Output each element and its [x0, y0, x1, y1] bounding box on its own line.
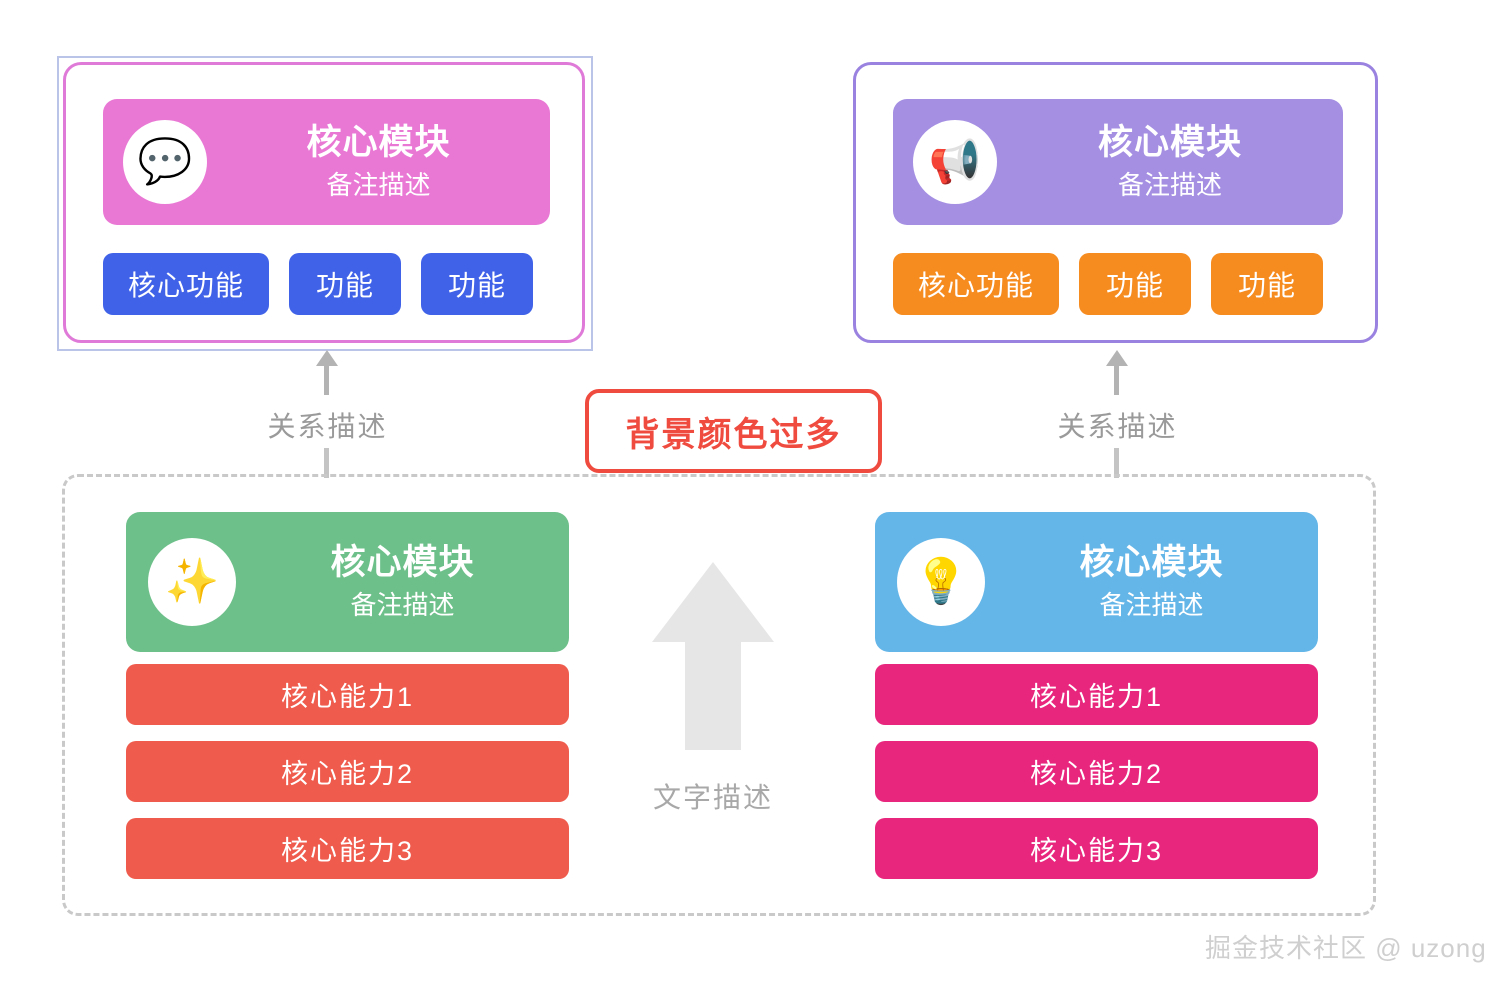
- pill-capability-3[interactable]: 核心能力3: [126, 818, 569, 879]
- pill-capability-2[interactable]: 核心能力2: [126, 741, 569, 802]
- module-header-texts-bottom-left: 核心模块 备注描述: [236, 543, 569, 620]
- card-bottom-right[interactable]: 💡 核心模块 备注描述 核心能力1 核心能力2 核心能力3: [875, 512, 1318, 880]
- module-header-texts-top-right: 核心模块 备注描述: [997, 123, 1343, 200]
- light-bulb-icon-glyph: 💡: [914, 560, 969, 604]
- connector-left-stem: [324, 365, 329, 395]
- callout-too-many-colors: 背景颜色过多: [585, 389, 882, 473]
- diagram-canvas: 💬 核心模块 备注描述 核心功能 功能 功能 📢 核心模块 备注描述 核心功能 …: [0, 0, 1496, 982]
- pill-capability-1[interactable]: 核心能力1: [875, 664, 1318, 725]
- megaphone-icon-glyph: 📢: [929, 141, 981, 183]
- module-subtitle: 备注描述: [326, 170, 430, 201]
- pill-function-2[interactable]: 功能: [421, 253, 533, 315]
- module-header-top-right[interactable]: 📢 核心模块 备注描述: [893, 99, 1343, 225]
- megaphone-icon: 📢: [913, 120, 997, 204]
- pill-function-1[interactable]: 功能: [289, 253, 401, 315]
- module-header-texts-bottom-right: 核心模块 备注描述: [985, 543, 1318, 620]
- module-title: 核心模块: [1098, 123, 1242, 163]
- module-title: 核心模块: [1079, 543, 1223, 583]
- speech-bubble-icon: 💬: [123, 120, 207, 204]
- pill-capability-2[interactable]: 核心能力2: [875, 741, 1318, 802]
- pill-capability-3[interactable]: 核心能力3: [875, 818, 1318, 879]
- center-up-arrow-icon: [652, 562, 774, 750]
- module-header-bottom-right[interactable]: 💡 核心模块 备注描述: [875, 512, 1318, 652]
- module-subtitle: 备注描述: [1118, 170, 1222, 201]
- card-top-left[interactable]: 💬 核心模块 备注描述 核心功能 功能 功能: [63, 62, 585, 343]
- center-arrow-label: 文字描述: [652, 776, 774, 816]
- module-title: 核心模块: [306, 123, 450, 163]
- center-arrow-tip: [652, 562, 774, 642]
- pill-function-1[interactable]: 功能: [1079, 253, 1191, 315]
- pill-core-function[interactable]: 核心功能: [893, 253, 1059, 315]
- module-title: 核心模块: [330, 543, 474, 583]
- connector-left-label: 关系描述: [265, 405, 390, 445]
- module-subtitle: 备注描述: [1099, 590, 1203, 621]
- card-bottom-left[interactable]: ✨ 核心模块 备注描述 核心能力1 核心能力2 核心能力3: [126, 512, 569, 880]
- connector-left-arrowhead: [316, 350, 338, 366]
- light-bulb-icon: 💡: [897, 538, 985, 626]
- module-header-bottom-left[interactable]: ✨ 核心模块 备注描述: [126, 512, 569, 652]
- connector-right-arrowhead: [1106, 350, 1128, 366]
- center-arrow-shaft: [685, 640, 741, 750]
- module-header-top-left[interactable]: 💬 核心模块 备注描述: [103, 99, 550, 225]
- module-header-texts-top-left: 核心模块 备注描述: [207, 123, 550, 200]
- sparkles-icon-glyph: ✨: [165, 560, 220, 604]
- pill-capability-1[interactable]: 核心能力1: [126, 664, 569, 725]
- module-subtitle: 备注描述: [350, 590, 454, 621]
- pill-function-2[interactable]: 功能: [1211, 253, 1323, 315]
- speech-bubble-icon-glyph: 💬: [138, 140, 193, 184]
- pill-core-function[interactable]: 核心功能: [103, 253, 269, 315]
- connector-right-stem: [1114, 365, 1119, 395]
- watermark: 掘金技术社区 @ uzong: [1205, 928, 1487, 965]
- card-top-right[interactable]: 📢 核心模块 备注描述 核心功能 功能 功能: [853, 62, 1378, 343]
- sparkles-icon: ✨: [148, 538, 236, 626]
- connector-right-label: 关系描述: [1055, 405, 1180, 445]
